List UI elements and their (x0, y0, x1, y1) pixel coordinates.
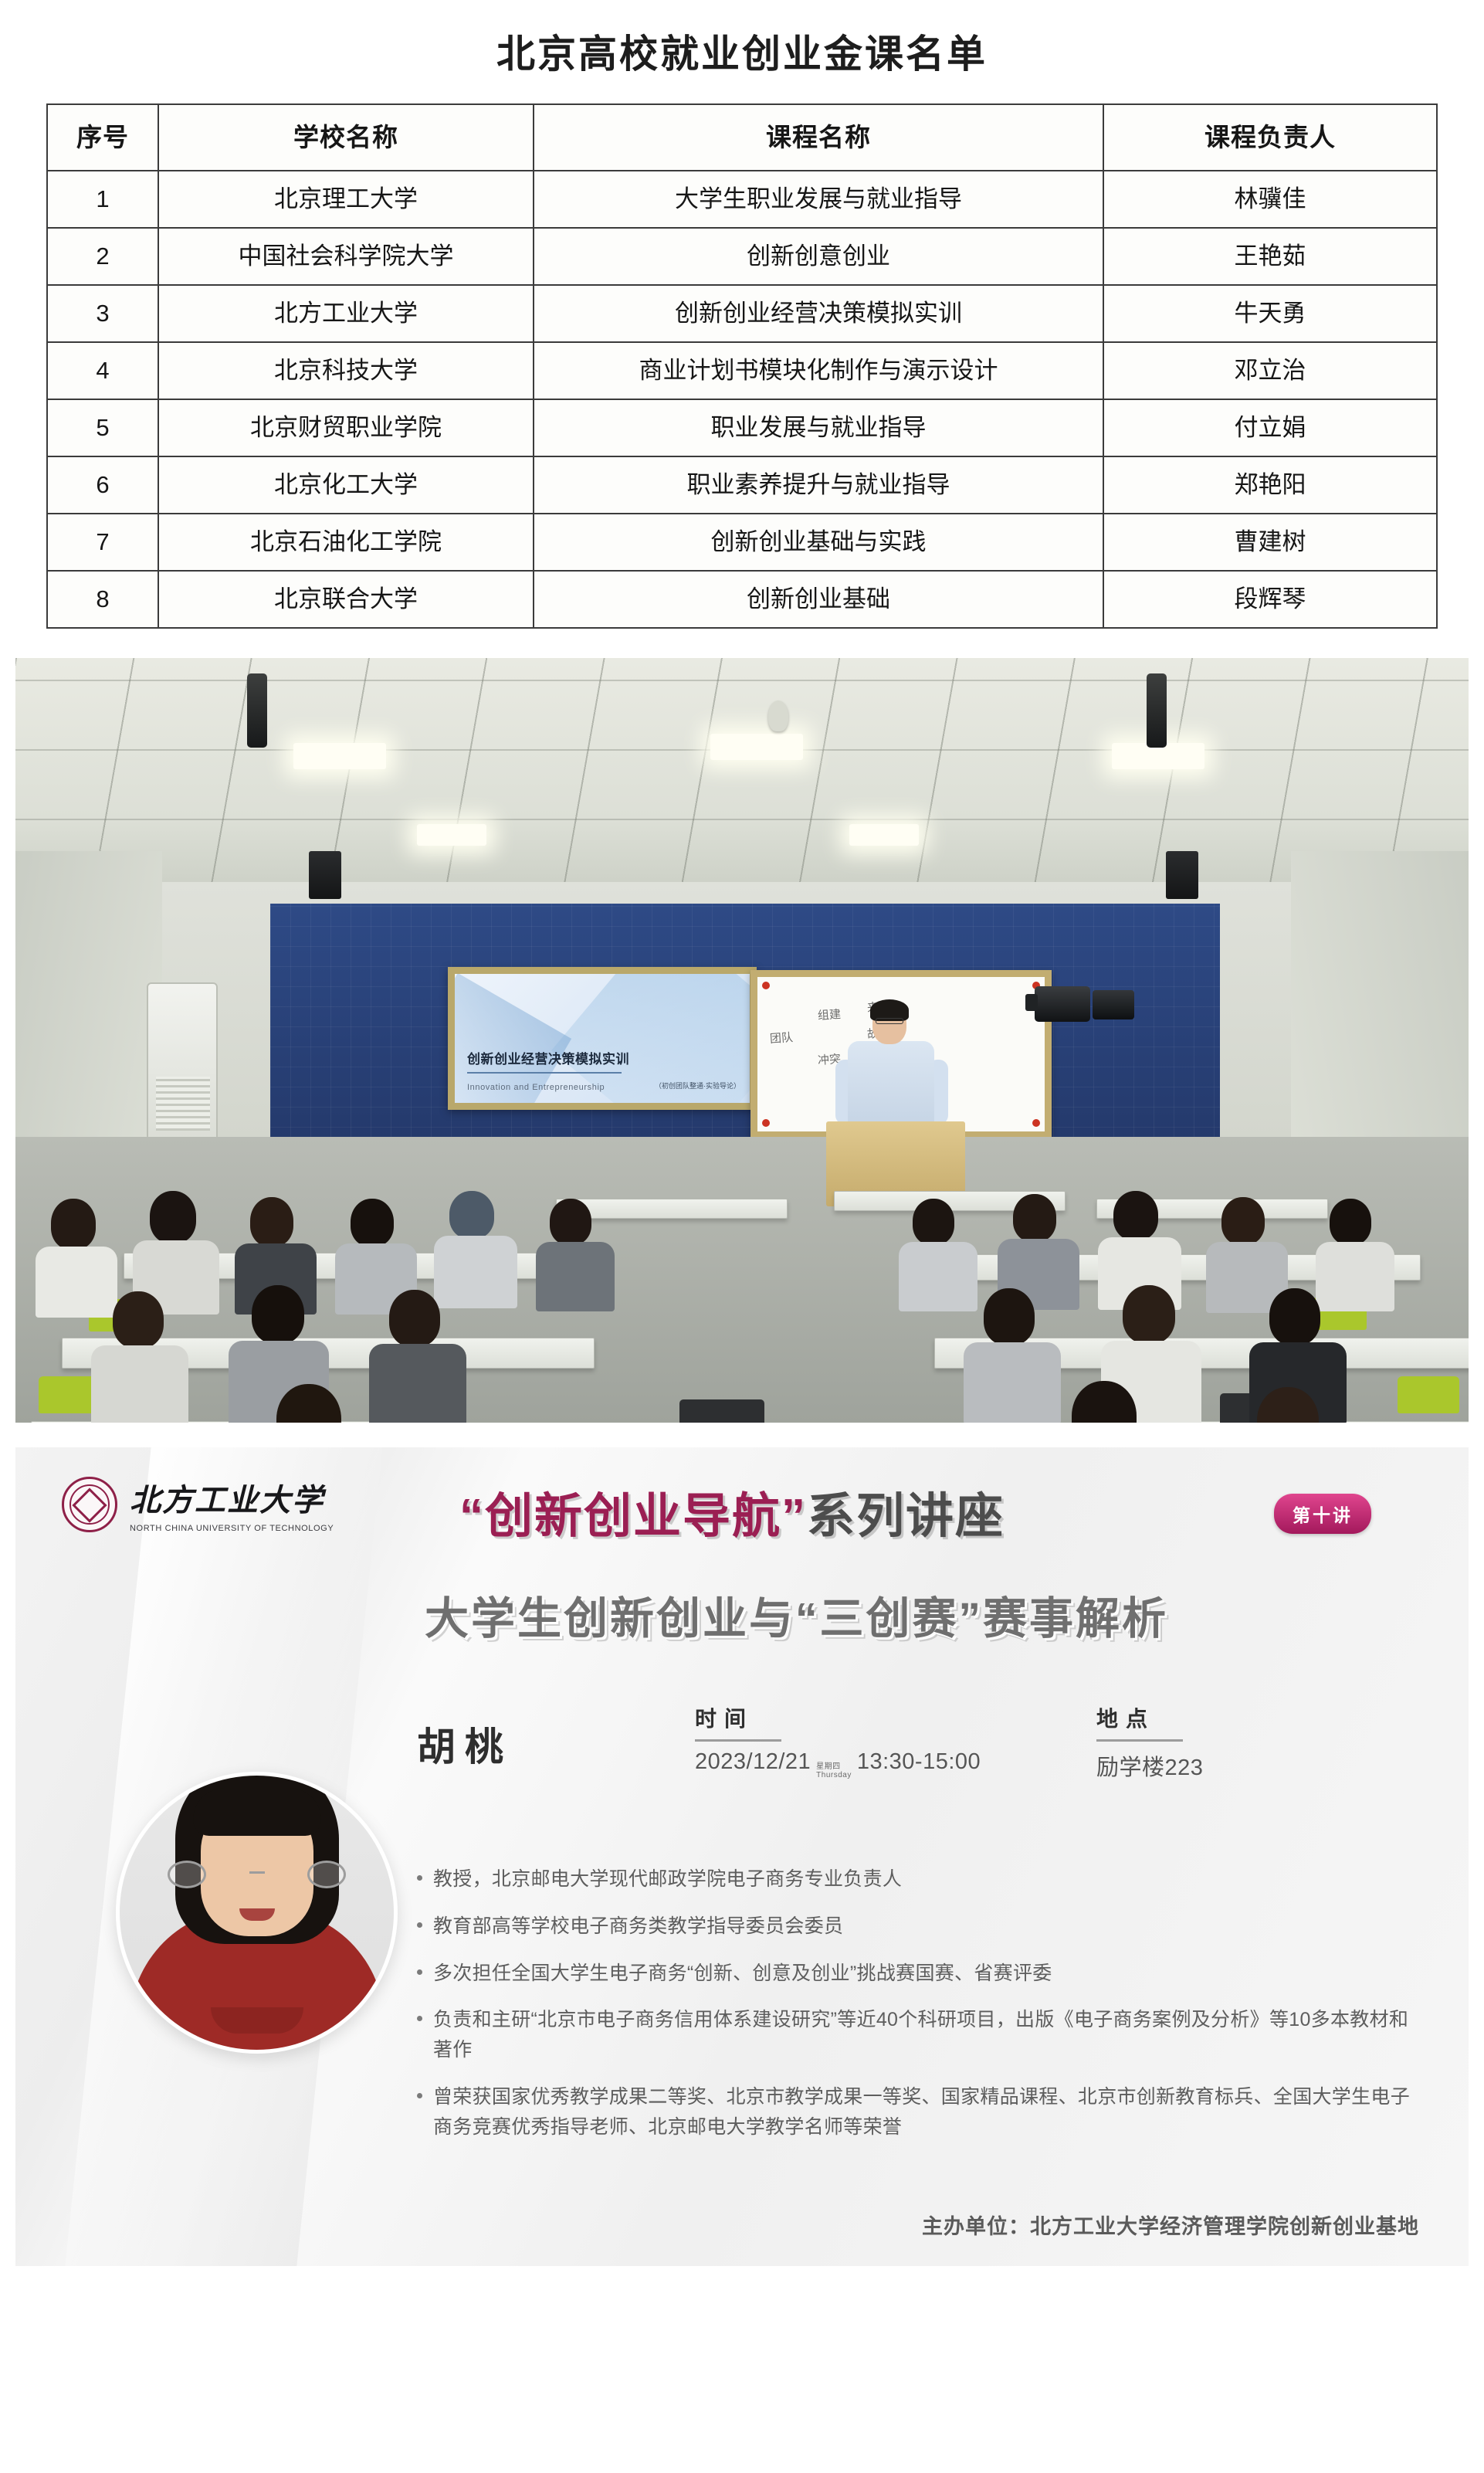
table-row: 4 北京科技大学 商业计划书模块化制作与演示设计 邓立治 (47, 342, 1437, 399)
speaker-box (1166, 851, 1198, 899)
cell-index: 2 (47, 228, 158, 285)
chair (1398, 1376, 1459, 1413)
logo-name-en: NORTH CHINA UNIVERSITY OF TECHNOLOGY (130, 1524, 334, 1533)
bullet-dot-icon (417, 1875, 422, 1881)
ceiling-lamp (710, 734, 803, 760)
cell-owner: 曹建树 (1103, 514, 1437, 571)
table-row: 8 北京联合大学 创新创业基础 段辉琴 (47, 571, 1437, 628)
bio-text: 负责和主研“北京市电子商务信用体系建设研究”等近40个科研项目，出版《电子商务案… (433, 2005, 1421, 2065)
ceiling-lamp (293, 743, 386, 769)
divider (695, 1739, 781, 1742)
speaker-portrait (100, 1625, 409, 2057)
glasses-icon (307, 1861, 346, 1888)
glasses-bridge-icon (249, 1871, 265, 1874)
cell-index: 8 (47, 571, 158, 628)
cell-index: 4 (47, 342, 158, 399)
table-row: 1 北京理工大学 大学生职业发展与就业指导 林骥佳 (47, 171, 1437, 228)
cell-owner: 林骥佳 (1103, 171, 1437, 228)
cell-index: 3 (47, 285, 158, 342)
slide-rule (467, 1072, 622, 1074)
air-conditioner (147, 982, 218, 1160)
organizer-line: 主办单位：北方工业大学经济管理学院创新创业基地 (922, 2210, 1419, 2240)
chair (679, 1399, 764, 1423)
projector-mount (247, 673, 267, 748)
time-value: 2023/12/21 星期四 Thursday 13:30-15:00 (695, 1749, 981, 1779)
magnet-icon (762, 982, 770, 989)
portrait-fringe (193, 1788, 321, 1836)
cell-school: 北京理工大学 (158, 171, 534, 228)
cell-course: 大学生职业发展与就业指导 (534, 171, 1103, 228)
column-header-school: 学校名称 (158, 104, 534, 171)
table-header-row: 序号 学校名称 课程名称 课程负责人 (47, 104, 1437, 171)
cell-owner: 王艳茹 (1103, 228, 1437, 285)
bio-text: 教育部高等学校电子商务类教学指导委员会委员 (433, 1912, 843, 1942)
series-title-quoted: “创新创业导航” (459, 1490, 807, 1543)
teacher-body (848, 1041, 934, 1134)
cell-owner: 付立娟 (1103, 399, 1437, 456)
course-table: 序号 学校名称 课程名称 课程负责人 1 北京理工大学 大学生职业发展与就业指导… (46, 103, 1438, 629)
time-date: 2023/12/21 (695, 1749, 811, 1775)
weekday-cn: 星期四 (816, 1763, 852, 1772)
projector-mount (1147, 673, 1167, 748)
cell-course: 创新创业基础 (534, 571, 1103, 628)
lecture-poster-section: 北方工业大学 NORTH CHINA UNIVERSITY OF TECHNOL… (0, 1435, 1484, 2281)
bullet-dot-icon (417, 1922, 422, 1928)
bullet-dot-icon (417, 2093, 422, 2098)
smoke-detector-icon (768, 701, 788, 731)
cell-index: 5 (47, 399, 158, 456)
column-header-course: 课程名称 (534, 104, 1103, 171)
place-value: 励学楼223 (1096, 1749, 1203, 1782)
glasses-icon (876, 1018, 903, 1024)
video-camera-icon (1035, 986, 1090, 1022)
magnet-icon (762, 1119, 770, 1127)
list-item: 教授，北京邮电大学现代邮政学院电子商务专业负责人 (417, 1864, 1421, 1895)
table-row: 3 北方工业大学 创新创业经营决策模拟实训 牛天勇 (47, 285, 1437, 342)
list-item: 曾荣获国家优秀教学成果二等奖、北京市教学成果一等奖、国家精品课程、北京市创新教育… (417, 2082, 1421, 2142)
speaker-name: 胡桃 (417, 1716, 513, 1772)
cell-school: 北京财贸职业学院 (158, 399, 534, 456)
series-title-rest: 系列讲座 (807, 1490, 1005, 1543)
classroom-photo: 创新创业经营决策模拟实训 Innovation and Entrepreneur… (15, 658, 1469, 1423)
cell-owner: 郑艳阳 (1103, 456, 1437, 514)
cell-course: 职业发展与就业指导 (534, 399, 1103, 456)
divider (1096, 1739, 1183, 1742)
table-row: 2 中国社会科学院大学 创新创意创业 王艳茹 (47, 228, 1437, 285)
video-camera-icon (1093, 990, 1134, 1019)
bullet-dot-icon (417, 1969, 422, 1975)
column-header-index: 序号 (47, 104, 158, 171)
slide-subtitle: （初创团队整通·实验导论） (655, 1080, 740, 1091)
cell-school: 北京联合大学 (158, 571, 534, 628)
cell-owner: 邓立治 (1103, 342, 1437, 399)
course-list-section: 北京高校就业创业金课名单 序号 学校名称 课程名称 课程负责人 1 北京理工大学… (0, 0, 1484, 650)
whiteboard-note: 团队 (769, 1029, 793, 1047)
glasses-icon (168, 1861, 206, 1888)
weekday-en: Thursday (816, 1772, 852, 1780)
list-item: 负责和主研“北京市电子商务信用体系建设研究”等近40个科研项目，出版《电子商务案… (417, 2005, 1421, 2065)
portrait-frame (116, 1772, 398, 2054)
table-row: 5 北京财贸职业学院 职业发展与就业指导 付立娟 (47, 399, 1437, 456)
cell-owner: 段辉琴 (1103, 571, 1437, 628)
place-label: 地点 (1096, 1702, 1203, 1733)
time-label: 时间 (695, 1702, 981, 1733)
whiteboard-note: 组建 (817, 1006, 841, 1023)
lecture-poster: 北方工业大学 NORTH CHINA UNIVERSITY OF TECHNOL… (15, 1447, 1469, 2266)
list-item: 多次担任全国大学生电子商务“创新、创意及创业”挑战赛国赛、省赛评委 (417, 1959, 1421, 1989)
cell-school: 北京科技大学 (158, 342, 534, 399)
classroom-photo-section: 创新创业经营决策模拟实训 Innovation and Entrepreneur… (0, 650, 1484, 1435)
series-title: “创新创业导航”系列讲座 (459, 1477, 1005, 1546)
portrait-collar (211, 2007, 303, 2034)
time-block: 时间 2023/12/21 星期四 Thursday 13:30-15:00 (695, 1702, 981, 1779)
table-row: 6 北京化工大学 职业素养提升与就业指导 郑艳阳 (47, 456, 1437, 514)
cell-index: 6 (47, 456, 158, 514)
list-item: 教育部高等学校电子商务类教学指导委员会委员 (417, 1912, 1421, 1942)
place-block: 地点 励学楼223 (1096, 1702, 1203, 1782)
lecture-number-badge: 第十讲 (1274, 1494, 1371, 1534)
cell-index: 7 (47, 514, 158, 571)
ceiling-grid (15, 658, 1469, 890)
university-seal-icon (62, 1477, 117, 1532)
cell-owner: 牛天勇 (1103, 285, 1437, 342)
cell-school: 北方工业大学 (158, 285, 534, 342)
ceiling-lamp (849, 824, 919, 846)
bio-text: 教授，北京邮电大学现代邮政学院电子商务专业负责人 (433, 1864, 902, 1895)
cell-course: 创新创业基础与实践 (534, 514, 1103, 571)
speaker-box (309, 851, 341, 899)
university-logo: 北方工业大学 NORTH CHINA UNIVERSITY OF TECHNOL… (62, 1475, 334, 1533)
left-wall (15, 851, 162, 1183)
cell-course: 创新创意创业 (534, 228, 1103, 285)
column-header-owner: 课程负责人 (1103, 104, 1437, 171)
cell-index: 1 (47, 171, 158, 228)
speaker-bio-list: 教授，北京邮电大学现代邮政学院电子商务专业负责人 教育部高等学校电子商务类教学指… (417, 1864, 1421, 2159)
cell-course: 创新创业经营决策模拟实训 (534, 285, 1103, 342)
table-row: 7 北京石油化工学院 创新创业基础与实践 曹建树 (47, 514, 1437, 571)
cell-school: 北京化工大学 (158, 456, 534, 514)
ceiling (15, 658, 1469, 890)
logo-name-cn: 北方工业大学 (130, 1475, 334, 1520)
ceiling-lamp (417, 824, 486, 846)
cell-course: 商业计划书模块化制作与演示设计 (534, 342, 1103, 399)
magnet-icon (1032, 1119, 1040, 1127)
lecture-title: 大学生创新创业与“三创赛”赛事解析 (425, 1583, 1168, 1647)
cell-school: 中国社会科学院大学 (158, 228, 534, 285)
slide-title: 创新创业经营决策模拟实训 (467, 1048, 629, 1067)
cell-course: 职业素养提升与就业指导 (534, 456, 1103, 514)
weekday-stack: 星期四 Thursday (816, 1763, 852, 1779)
slide-english: Innovation and Entrepreneurship (467, 1083, 605, 1092)
bio-text: 曾荣获国家优秀教学成果二等奖、北京市教学成果一等奖、国家精品课程、北京市创新教育… (433, 2082, 1421, 2142)
bio-text: 多次担任全国大学生电子商务“创新、创意及创业”挑战赛国赛、省赛评委 (433, 1959, 1052, 1989)
cell-school: 北京石油化工学院 (158, 514, 534, 571)
bullet-dot-icon (417, 2016, 422, 2021)
time-range: 13:30-15:00 (857, 1749, 981, 1775)
page-title: 北京高校就业创业金课名单 (46, 23, 1438, 79)
projection-screen: 创新创业经营决策模拟实训 Innovation and Entrepreneur… (448, 967, 757, 1110)
